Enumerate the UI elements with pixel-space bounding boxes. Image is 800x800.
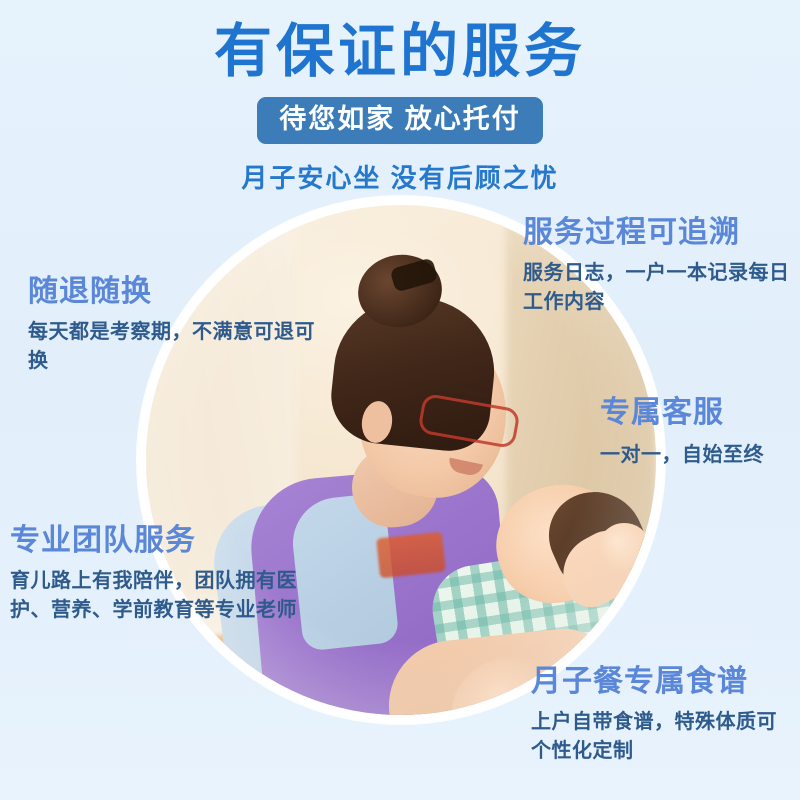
feature-recipe-body: 上户自带食谱，特殊体质可个性化定制 <box>531 708 797 766</box>
poster-header: 有保证的服务 待您如家 放心托付 月子安心坐 没有后顾之忧 <box>0 0 800 195</box>
feature-retrace-heading: 服务过程可追溯 <box>523 216 791 251</box>
tagline-badge: 待您如家 放心托付 <box>257 97 543 144</box>
feature-team: 专业团队服务 育儿路上有我陪伴，团队拥有医护、营养、学前教育等专业老师 <box>10 524 310 625</box>
poster-root: 有保证的服务 待您如家 放心托付 月子安心坐 没有后顾之忧 <box>0 0 800 800</box>
feature-support: 专属客服 一对一，自始至终 <box>600 396 800 470</box>
feature-support-heading: 专属客服 <box>600 396 800 431</box>
feature-support-body: 一对一，自始至终 <box>600 441 800 470</box>
feature-exchange: 随退随换 每天都是考察期，不满意可退可换 <box>28 275 318 376</box>
feature-team-body: 育儿路上有我陪伴，团队拥有医护、营养、学前教育等专业老师 <box>10 567 310 625</box>
feature-exchange-heading: 随退随换 <box>28 275 318 310</box>
feature-exchange-body: 每天都是考察期，不满意可退可换 <box>28 318 318 376</box>
feature-team-heading: 专业团队服务 <box>10 524 310 559</box>
page-title: 有保证的服务 <box>0 0 800 83</box>
feature-retrace: 服务过程可追溯 服务日志，一户一本记录每日工作内容 <box>523 216 791 317</box>
feature-recipe-heading: 月子餐专属食谱 <box>531 665 797 700</box>
feature-recipe: 月子餐专属食谱 上户自带食谱，特殊体质可个性化定制 <box>531 665 797 766</box>
feature-retrace-body: 服务日志，一户一本记录每日工作内容 <box>523 259 791 317</box>
badge-wrapper: 待您如家 放心托付 <box>0 97 800 144</box>
page-subtitle: 月子安心坐 没有后顾之忧 <box>0 158 800 195</box>
